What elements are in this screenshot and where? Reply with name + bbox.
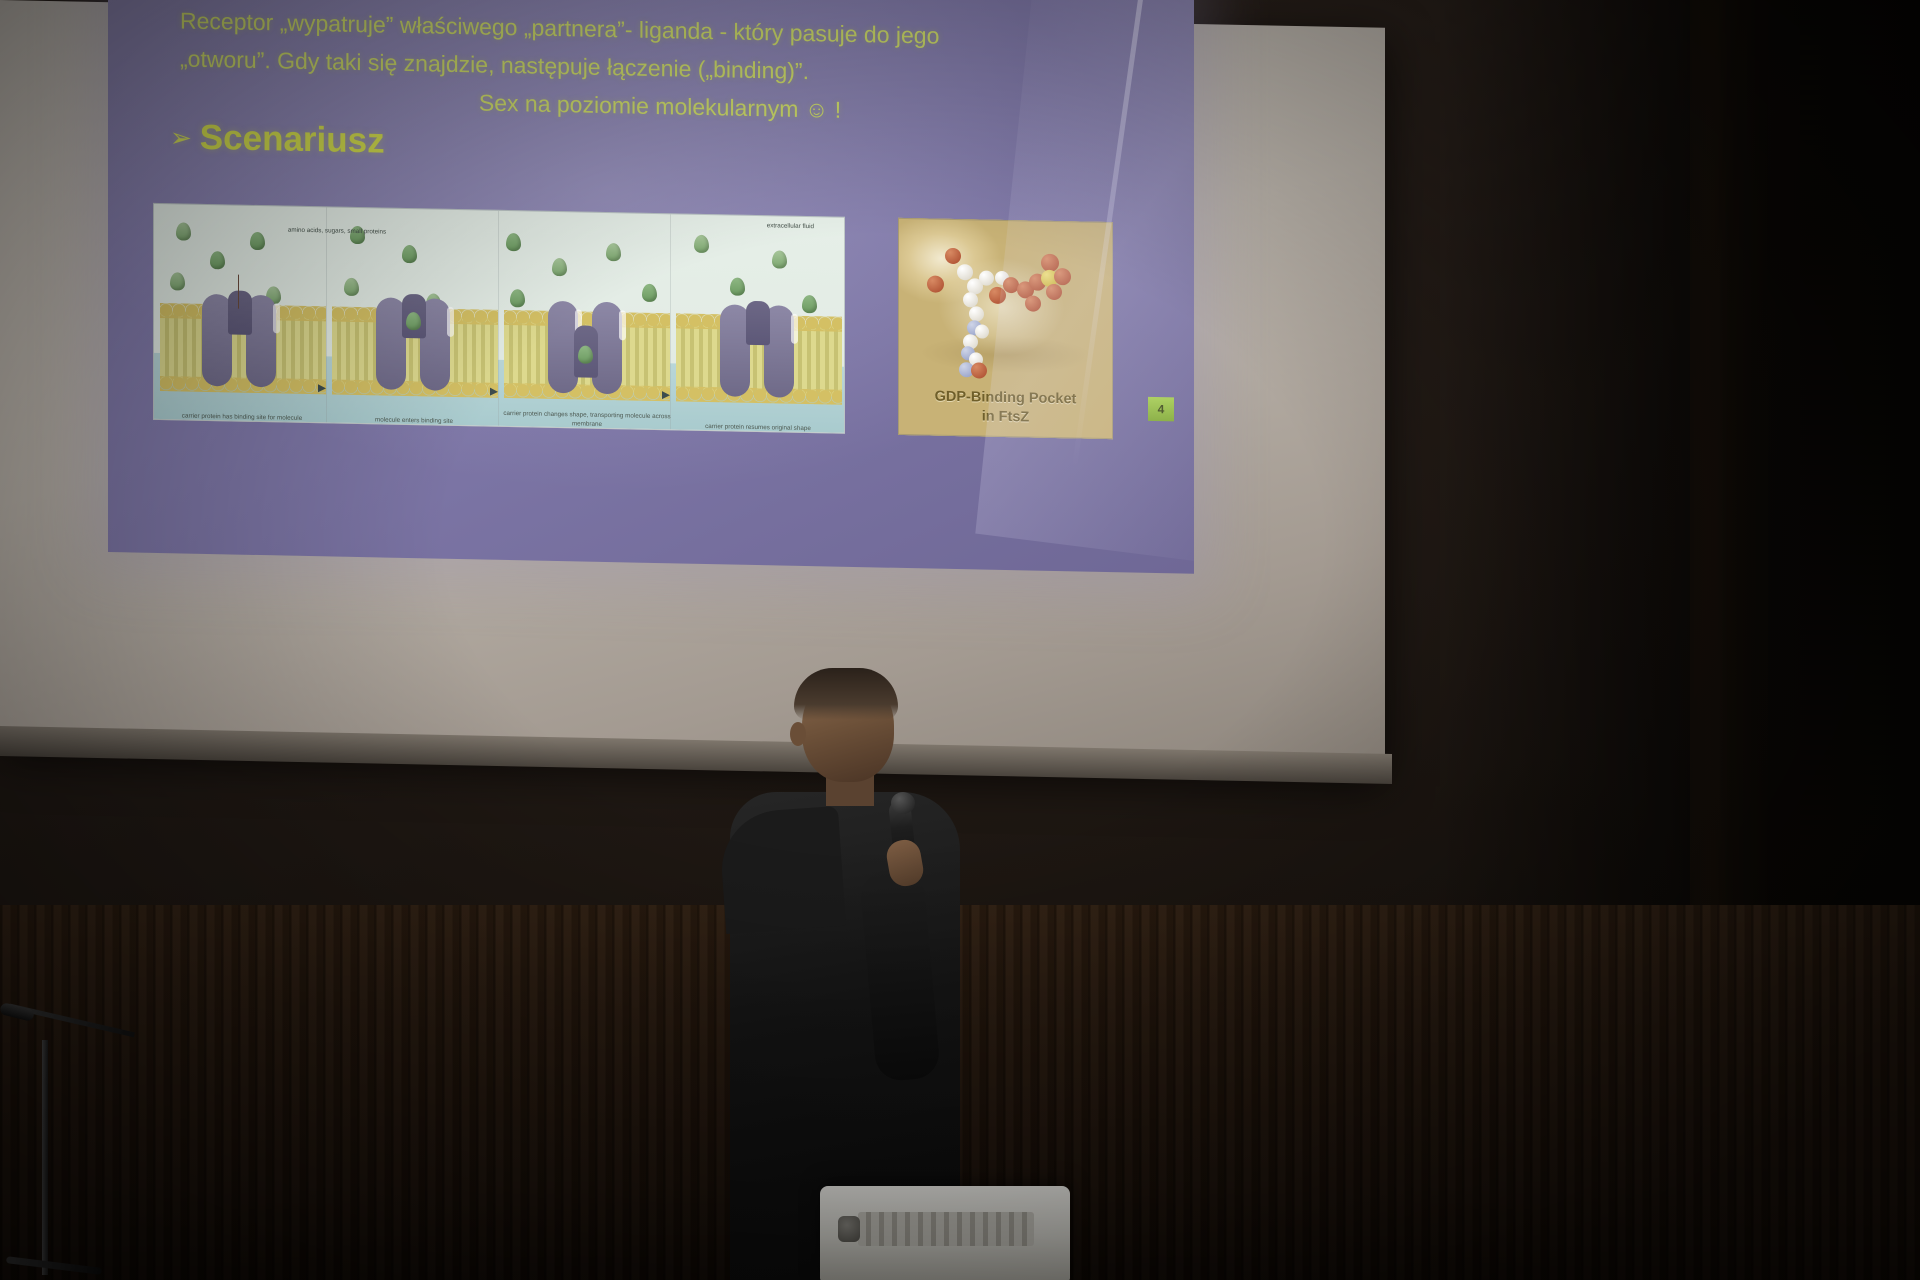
bound-molecule-icon [578, 345, 593, 363]
oxygen-atom-icon [927, 275, 944, 292]
carrier-protein-icon [548, 301, 622, 394]
stand-microphone-icon [0, 1002, 35, 1022]
molecule-icon [506, 233, 521, 251]
gdp-binding-pocket-figure: GDP-Binding Pocket in FtsZ [898, 218, 1113, 439]
stand-foot [6, 1256, 102, 1275]
molecule-icon [402, 245, 417, 263]
slide-body-line-1: Receptor „wypatruje” właściwego „partner… [180, 7, 939, 48]
panel-caption: carrier protein has binding site for mol… [164, 412, 320, 424]
molecule-icon [176, 222, 191, 240]
ceiling-projector-unit [820, 1186, 1070, 1280]
projected-slide: Ligandy (addendy, podstawniki) Receptor … [108, 0, 1194, 574]
projection-screen: Ligandy (addendy, podstawniki) Receptor … [0, 0, 1400, 760]
panel-divider [498, 211, 499, 426]
projector-vent [858, 1212, 1034, 1246]
diagram-panel: molecule enters binding site [332, 262, 498, 425]
stand-pole [42, 1040, 48, 1275]
panel-divider [670, 214, 671, 429]
carrier-protein-icon [202, 294, 276, 387]
oxygen-atom-icon [1046, 284, 1062, 300]
carbon-atom-icon [979, 270, 994, 285]
molecule-icon [772, 250, 787, 268]
carrier-protein-icon [720, 304, 794, 397]
flow-arrow-icon [490, 388, 498, 396]
oxygen-atom-icon [1054, 268, 1071, 285]
oxygen-atom-icon [945, 248, 961, 264]
label-extracellular-fluid: extracellular fluid [694, 221, 814, 232]
binding-site [228, 290, 252, 334]
flow-arrow-icon [662, 391, 670, 399]
molecule-icon [250, 232, 265, 250]
arrow-bullet-icon: ➢ [170, 124, 192, 150]
carbon-atom-icon [969, 306, 984, 321]
carbon-atom-icon [963, 292, 978, 307]
slide-bullet-scenariusz: ➢ Scenariusz [170, 117, 385, 161]
panel-divider [326, 207, 327, 422]
carrier-protein-diagram: amino acids, sugars, small proteins extr… [153, 203, 845, 434]
flow-arrow-icon [318, 384, 326, 392]
right-wall-shadow [1440, 0, 1920, 930]
photo-scene: Ligandy (addendy, podstawniki) Receptor … [0, 0, 1920, 1280]
presenter-ear [790, 722, 806, 746]
slide-page-badge: 4 [1148, 397, 1174, 422]
slide-bullet-label: Scenariusz [200, 118, 385, 162]
oxygen-atom-icon [1025, 295, 1041, 311]
carbon-atom-icon [957, 264, 973, 280]
diagram-panel: carrier protein changes shape, transport… [504, 266, 670, 429]
leader-line [238, 275, 239, 309]
carbon-atom-icon [975, 324, 989, 338]
microphone-stand [0, 1000, 160, 1280]
molecule-icon [606, 243, 621, 261]
slide-body-text: Receptor „wypatruje” właściwego „partner… [180, 1, 1140, 134]
diagram-panel: carrier protein resumes original shape [676, 269, 842, 432]
slide-body-line-2: „otworu”. Gdy taki się znajdzie, następu… [180, 45, 809, 84]
panel-caption: carrier protein resumes original shape [680, 422, 836, 434]
diagram-panel: carrier protein has binding site for mol… [160, 259, 326, 422]
binding-site [746, 301, 770, 345]
label-amino-acids-sugars-proteins: amino acids, sugars, small proteins [282, 226, 392, 237]
oxygen-atom-icon [971, 362, 987, 378]
carrier-protein-icon [376, 297, 450, 390]
presenter-hair [794, 668, 898, 720]
panel-caption: carrier protein changes shape, transport… [502, 410, 672, 430]
microphone-capsule-icon [891, 792, 915, 814]
panel-caption: molecule enters binding site [336, 415, 492, 427]
projector-lens-icon [838, 1216, 860, 1242]
bound-molecule-icon [406, 312, 421, 330]
molecule-icon [694, 235, 709, 253]
